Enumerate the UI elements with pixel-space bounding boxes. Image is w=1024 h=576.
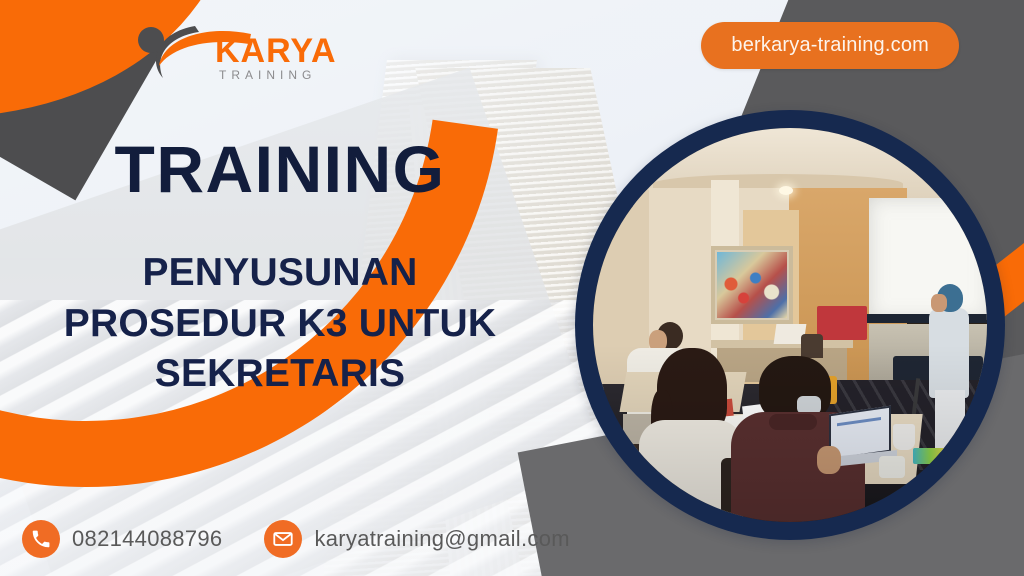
- phone-number: 082144088796: [72, 526, 222, 552]
- logo-tagline: TRAINING: [219, 68, 316, 82]
- subtitle-line-2: PROSEDUR K3 UNTUK: [0, 299, 560, 350]
- logo-crescent-grey: [156, 26, 199, 78]
- headline-block: TRAINING PENYUSUNAN PROSEDUR K3 UNTUK SE…: [0, 136, 560, 400]
- envelope-icon: [264, 520, 302, 558]
- page-title: TRAINING: [0, 136, 560, 202]
- contact-email[interactable]: karyatraining@gmail.com: [264, 520, 569, 558]
- photo-ring: [575, 110, 1005, 540]
- logo-wordmark: KARYA: [215, 32, 337, 70]
- subtitle-block: PENYUSUNAN PROSEDUR K3 UNTUK SEKRETARIS: [0, 248, 560, 400]
- contact-phone[interactable]: 082144088796: [22, 520, 222, 558]
- promo-poster: KARYA TRAINING berkarya-training.com TRA…: [0, 0, 1024, 576]
- karya-training-logo[interactable]: KARYA TRAINING: [133, 18, 373, 90]
- contact-bar: 082144088796 karyatraining@gmail.com: [22, 520, 570, 558]
- subtitle-line-1: PENYUSUNAN: [0, 248, 560, 299]
- phone-icon: [22, 520, 60, 558]
- website-badge[interactable]: berkarya-training.com: [701, 22, 959, 69]
- training-room-photo: [593, 128, 987, 522]
- email-address: karyatraining@gmail.com: [314, 526, 569, 552]
- subtitle-line-3: SEKRETARIS: [0, 349, 560, 400]
